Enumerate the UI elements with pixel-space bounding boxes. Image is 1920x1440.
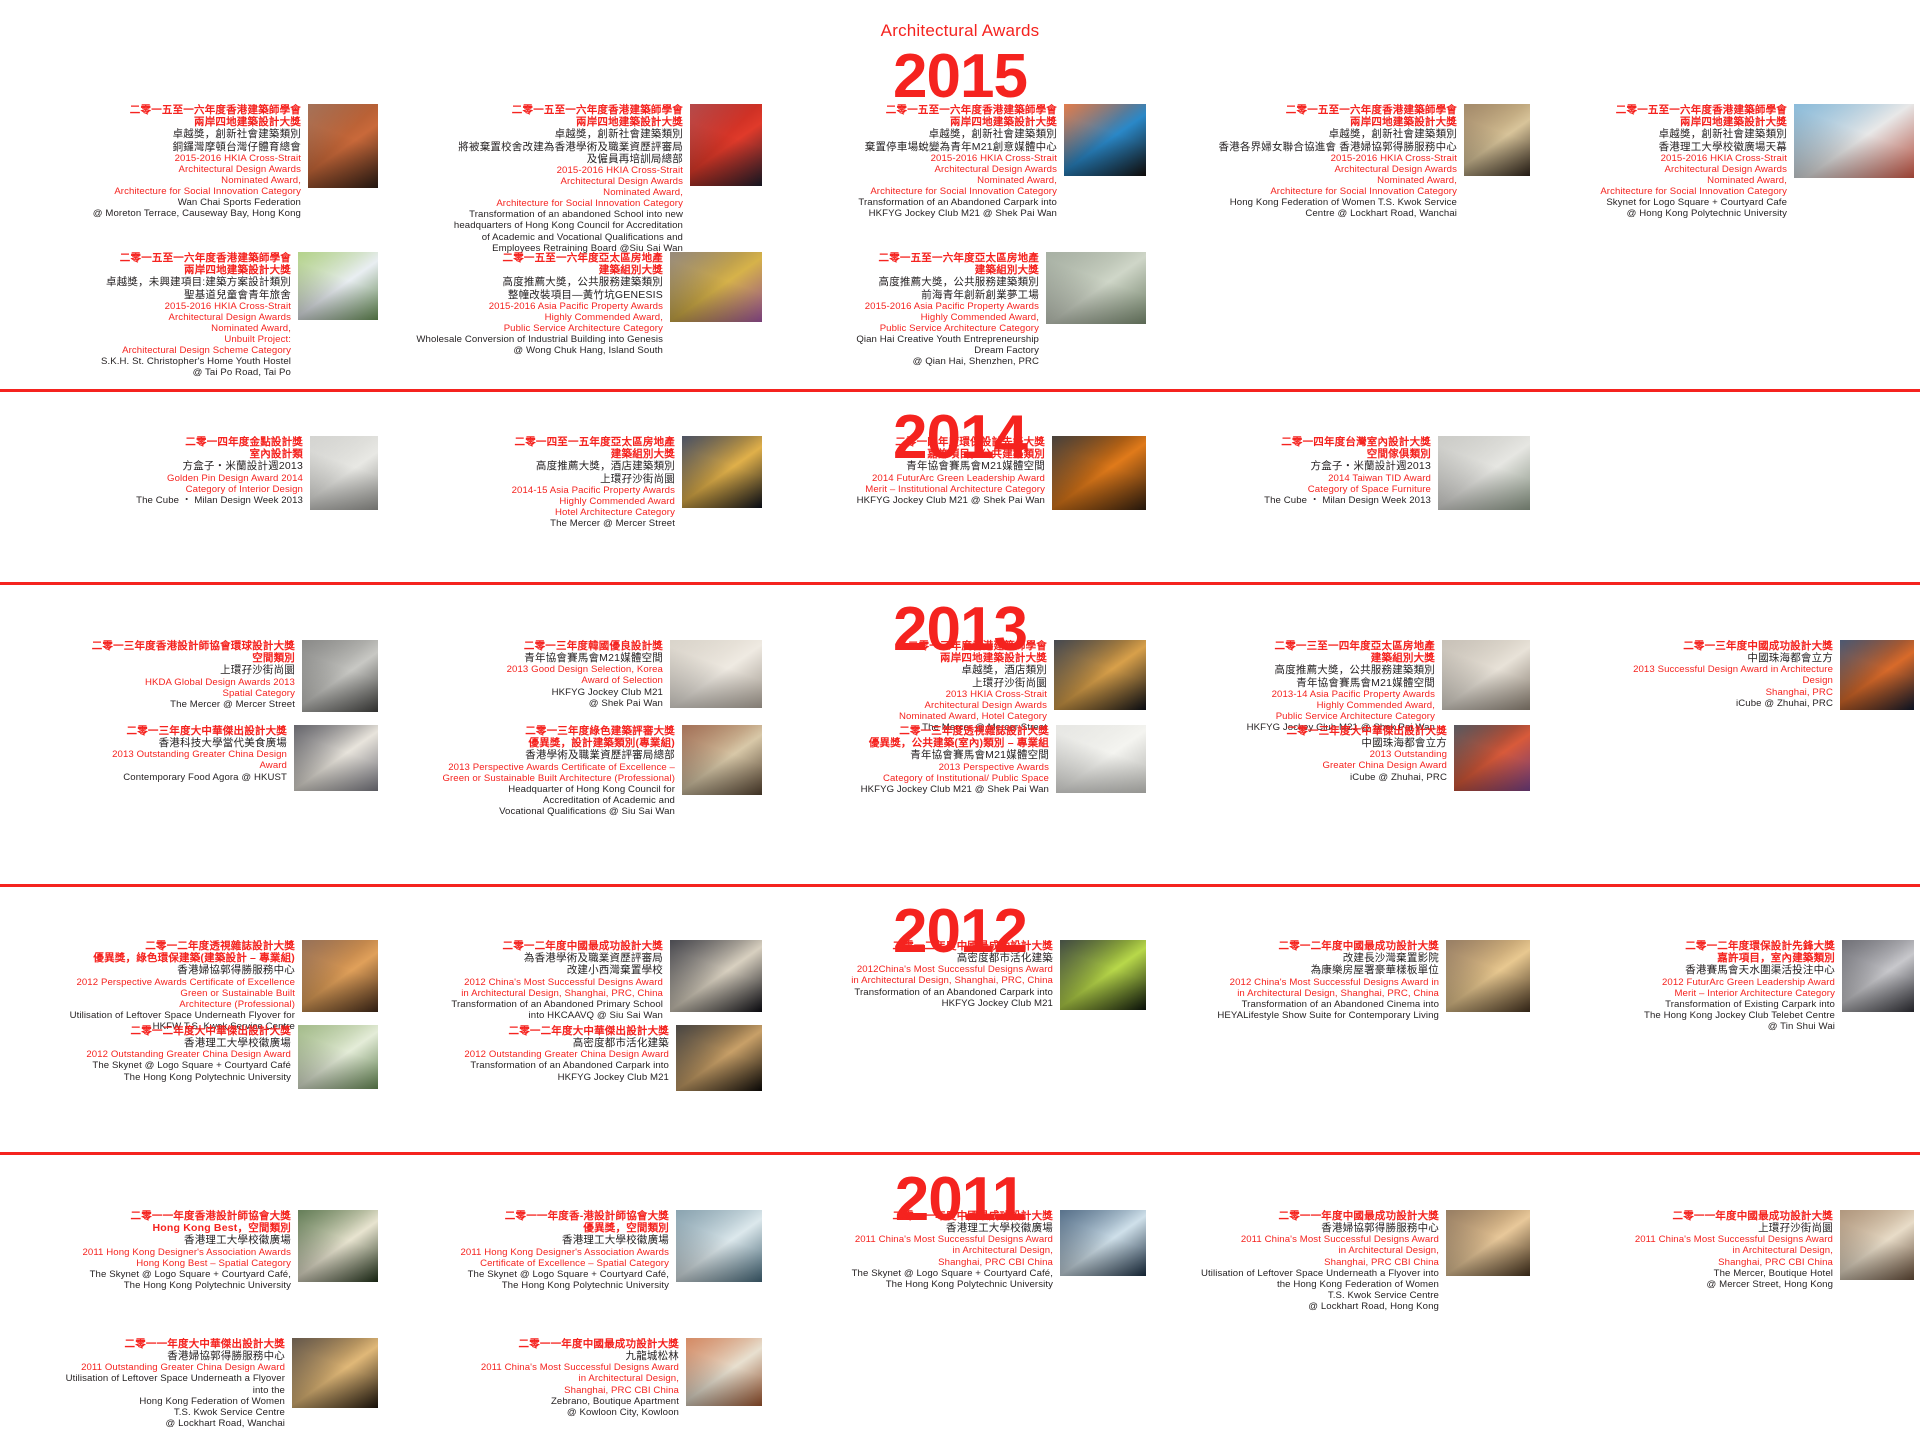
award-caption-line: Hotel Architecture Category — [390, 507, 675, 518]
award-entry[interactable]: 二零一二年度環保設計先鋒大獎嘉許項目，室內建築類別香港賽馬會天水圍渠活投注中心2… — [1542, 940, 1914, 1032]
award-caption-line: 2012 China's Most Successful Designs Awa… — [1158, 977, 1439, 988]
award-caption: 二零一三年度大中華傑出設計大獎中國珠海都會立方2013 OutstandingG… — [1158, 725, 1447, 783]
award-caption-line: 2011 China's Most Successful Designs Awa… — [774, 1234, 1053, 1245]
award-caption: 二零一三年度綠色建築評審大獎優異獎，設計建築類別(專業組)香港學術及職業資歷評審… — [390, 725, 675, 817]
year-divider-rule — [0, 582, 1920, 585]
award-caption-line: @ Wong Chuk Hang, Island South — [390, 345, 663, 356]
award-caption-line: 二零一三年度中國成功設計大獎 — [1542, 640, 1833, 652]
award-caption-line: 2013 Outstanding Greater China Design — [6, 749, 287, 760]
award-caption-line: 2013 Successful Design Award in Architec… — [1542, 664, 1833, 675]
award-caption-line: Architectural Design Awards — [1542, 164, 1787, 175]
award-entry[interactable]: 二零一五至一六年度香港建築師學會兩岸四地建築設計大獎卓越獎，創新社會建築類別棄置… — [774, 104, 1146, 219]
award-caption-line: Centre @ Lockhart Road, Wanchai — [1158, 208, 1457, 219]
award-caption-line: 2014-15 Asia Pacific Property Awards — [390, 485, 675, 496]
award-caption-line: The Mercer, Boutique Hotel — [1542, 1268, 1833, 1279]
award-caption: 二零一三年度韓國優良設計獎青年協會賽馬會M21媒體空間2013 Good Des… — [390, 640, 663, 709]
award-caption-line: @ Lockhart Road, Wanchai — [6, 1418, 285, 1429]
award-photo — [310, 436, 378, 510]
award-caption-line: Shanghai, PRC — [1542, 687, 1833, 698]
award-cell — [1152, 1025, 1536, 1105]
award-caption-line: in Architectural Design, — [1542, 1245, 1833, 1256]
award-caption-line: @ Qian Hai, Shenzhen, PRC — [774, 356, 1039, 367]
award-caption-line: 優異獎，設計建築類別(專業組) — [390, 737, 675, 749]
award-caption-line: 中國珠海都會立方 — [1542, 652, 1833, 664]
award-photo — [690, 104, 762, 186]
award-caption: 二零一一年度中國最成功設計大獎上環孖沙街尚圜2011 China's Most … — [1542, 1210, 1833, 1290]
award-caption-line: The Cube ・ Milan Design Week 2013 — [1158, 495, 1431, 506]
award-caption-line: 兩岸四地建築設計大獎 — [774, 116, 1057, 128]
award-entry[interactable]: 二零一三至一四年度亞太區房地產建築組別大獎高度推薦大獎，公共服務建築類別青年協會… — [1158, 640, 1530, 733]
award-caption: 二零一二年度大中華傑出設計大獎香港理工大學校徽廣場2012 Outstandin… — [6, 1025, 291, 1083]
award-entry[interactable]: 二零一五至一六年度香港建築師學會兩岸四地建築設計大獎卓越獎，創新社會建築類別銅鑼… — [6, 104, 378, 219]
award-caption-line: HEYALifestyle Show Suite for Contemporar… — [1158, 1010, 1439, 1021]
award-caption-line: 建築組別大獎 — [1158, 652, 1435, 664]
award-photo — [308, 104, 378, 188]
award-caption-line: Merit – Interior Architecture Category — [1542, 988, 1835, 999]
award-caption-line: Architectural Design Awards — [6, 164, 301, 175]
award-caption-line: 2015-2016 HKIA Cross-Strait — [774, 153, 1057, 164]
award-caption-line: 2013 Outstanding — [1158, 749, 1447, 760]
award-caption-line: in Architectural Design, — [1158, 1245, 1439, 1256]
award-caption-line: Nominated Award, — [390, 187, 683, 198]
award-caption-line: 青年協會賽馬會M21媒體空間 — [1158, 677, 1435, 689]
page-header: Architectural Awards 2015 — [0, 22, 1920, 106]
award-cell — [768, 1338, 1152, 1440]
award-entry[interactable]: 二零一一年度中國最成功設計大獎香港理工大學校徽廣場2011 China's Mo… — [774, 1210, 1146, 1290]
award-entry[interactable]: 二零一三年度大中華傑出設計大獎中國珠海都會立方2013 OutstandingG… — [1158, 725, 1530, 791]
award-caption-line: 香港各界婦女聯合協進會 香港婦協郭得勝服務中心 — [1158, 141, 1457, 153]
award-cell — [1536, 252, 1920, 393]
award-caption-line: 2011 Outstanding Greater China Design Aw… — [6, 1362, 285, 1373]
award-caption: 二零一一年度中國最成功設計大獎九龍城松林2011 China's Most Su… — [390, 1338, 679, 1418]
award-caption-line: T.S. Kwok Service Centre — [6, 1407, 285, 1418]
award-caption-line: 二零一二年度中國最成功設計大獎 — [390, 940, 663, 952]
award-caption-line: Dream Factory — [774, 345, 1039, 356]
award-caption-line: Unbuilt Project: — [6, 334, 291, 345]
award-photo — [1446, 1210, 1530, 1276]
award-caption-line: Green or Sustainable Built Architecture … — [390, 773, 675, 784]
award-entry[interactable]: 二零一五至一六年度香港建築師學會兩岸四地建築設計大獎卓越獎，未興建項目:建築方案… — [6, 252, 378, 379]
award-caption-line: 二零一二年度環保設計先鋒大獎 — [1542, 940, 1835, 952]
award-caption-line: Zebrano, Boutique Apartment — [390, 1396, 679, 1407]
award-caption-line: 上環孖沙街尚圜 — [6, 664, 295, 676]
award-caption-line: Skynet for Logo Square + Courtyard Cafe — [1542, 197, 1787, 208]
award-cell: 二零一四至一五年度亞太區房地產建築組別大獎高度推薦大獎，酒店建築類別上環孖沙街尚… — [384, 436, 768, 543]
award-photo — [1840, 1210, 1914, 1280]
award-caption-line: 空間傢俱類別 — [1158, 448, 1431, 460]
award-caption-line: Utilisation of Leftover Space Underneath… — [6, 1373, 285, 1384]
award-caption: 二零一三年度香港設計師協會環球設計大獎空間類別上環孖沙街尚圜HKDA Globa… — [6, 640, 295, 710]
award-caption-line: 2015-2016 HKIA Cross-Strait — [1542, 153, 1787, 164]
award-caption-line: 二零一五至一六年度香港建築師學會 — [774, 104, 1057, 116]
award-caption-line: Wan Chai Sports Federation — [6, 197, 301, 208]
award-caption-line: @ Moreton Terrace, Causeway Bay, Hong Ko… — [6, 208, 301, 219]
award-caption-line: 2013 HKIA Cross-Strait — [774, 689, 1047, 700]
award-caption: 二零一一年度中國最成功設計大獎香港理工大學校徽廣場2011 China's Mo… — [774, 1210, 1053, 1290]
award-caption-line: Category of Space Furniture — [1158, 484, 1431, 495]
award-caption-line: Nominated Award, — [1542, 175, 1787, 186]
award-entry[interactable]: 二零一三年度香港建築師學會兩岸四地建築設計大獎卓越獎，酒店類別上環孖沙街尚圜20… — [774, 640, 1146, 733]
award-caption-line: 二零一一年度香港設計師協會大獎 — [6, 1210, 291, 1222]
hero-year: 2015 — [0, 47, 1920, 107]
award-caption-line: Utilisation of Leftover Space Underneath… — [1158, 1268, 1439, 1279]
award-caption-line: Transformation of an abandoned School in… — [390, 209, 683, 220]
award-photo — [1064, 104, 1146, 176]
award-caption-line: 2011 China's Most Successful Designs Awa… — [390, 1362, 679, 1373]
award-caption-line: Architecture for Social Innovation Categ… — [1158, 186, 1457, 197]
award-caption-line: HKDA Global Design Awards 2013 — [6, 677, 295, 688]
award-caption-line: Nominated Award, — [1158, 175, 1457, 186]
award-caption-line: 上環孖沙街尚圜 — [774, 677, 1047, 689]
award-caption-line: The Hong Kong Polytechnic University — [6, 1072, 291, 1083]
award-row: 二零一五至一六年度香港建築師學會兩岸四地建築設計大獎卓越獎，創新社會建築類別銅鑼… — [0, 104, 1920, 268]
award-caption-line: 室內設計類 — [6, 448, 303, 460]
award-entry[interactable]: 二零一一年度中國最成功設計大獎上環孖沙街尚圜2011 China's Most … — [1542, 1210, 1914, 1290]
award-caption-line: Wholesale Conversion of Industrial Build… — [390, 334, 663, 345]
award-cell: 二零一二年度大中華傑出設計大獎香港理工大學校徽廣場2012 Outstandin… — [0, 1025, 384, 1105]
award-caption-line: Greater China Design Award — [1158, 760, 1447, 771]
award-photo — [1454, 725, 1530, 791]
award-caption-line: 香港科技大學當代美食廣場 — [6, 737, 287, 749]
award-caption-line: @ Kowloon City, Kowloon — [390, 1407, 679, 1418]
award-caption-line: Transformation of an Abandoned Primary S… — [390, 999, 663, 1010]
award-caption-line: 2012 Outstanding Greater China Design Aw… — [390, 1049, 669, 1060]
award-caption-line: 2012 China's Most Successful Designs Awa… — [390, 977, 663, 988]
award-caption-line: 卓越獎，創新社會建築類別 — [390, 128, 683, 140]
award-entry[interactable]: 二零一四年度環保設計先鋒大獎嘉許項目，公共建築類別青年協會賽馬會M21媒體空間2… — [774, 436, 1146, 510]
award-entry[interactable]: 二零一三年度香港設計師協會環球設計大獎空間類別上環孖沙街尚圜HKDA Globa… — [6, 640, 378, 712]
award-caption-line: 2011 China's Most Successful Designs Awa… — [1158, 1234, 1439, 1245]
award-caption-line: 二零一五至一六年度香港建築師學會 — [1158, 104, 1457, 116]
award-photo — [1442, 640, 1530, 710]
award-caption-line: 二零一二年度透視雜誌設計大獎 — [6, 940, 295, 952]
award-caption-line: 二零一三至一四年度亞太區房地產 — [1158, 640, 1435, 652]
award-cell — [1536, 436, 1920, 543]
award-caption-line: 二零一五至一六年度亞太區房地產 — [774, 252, 1039, 264]
award-caption-line: Architectural Design Awards — [390, 176, 683, 187]
award-entry[interactable]: 二零一一年度大中華傑出設計大獎香港婦協郭得勝服務中心2011 Outstandi… — [6, 1338, 378, 1429]
award-caption-line: Merit – Institutional Architecture Categ… — [774, 484, 1045, 495]
award-cell: 二零一五至一六年度香港建築師學會兩岸四地建築設計大獎卓越獎，未興建項目:建築方案… — [0, 252, 384, 393]
award-caption-line: HKFYG Jockey Club M21 @ Shek Pai Wan — [774, 495, 1045, 506]
award-cell: 二零一五至一六年度香港建築師學會兩岸四地建築設計大獎卓越獎，創新社會建築類別香港… — [1536, 104, 1920, 268]
award-cell: 二零一一年度大中華傑出設計大獎香港婦協郭得勝服務中心2011 Outstandi… — [0, 1338, 384, 1440]
award-caption-line: 2011 China's Most Successful Designs Awa… — [1542, 1234, 1833, 1245]
award-caption-line: Hong Kong Federation of Women — [6, 1396, 285, 1407]
award-caption-line: 二零一三年度香港建築師學會 — [774, 640, 1047, 652]
award-photo — [682, 436, 762, 508]
award-entry[interactable]: 二零一五至一六年度香港建築師學會兩岸四地建築設計大獎卓越獎，創新社會建築類別香港… — [1158, 104, 1530, 219]
award-photo — [1794, 104, 1914, 178]
award-caption-line: 高密度都市活化建築 — [390, 1037, 669, 1049]
award-caption-line: Architectural Design Scheme Category — [6, 345, 291, 356]
award-caption-line: Shanghai, PRC CBI China — [1158, 1257, 1439, 1268]
award-caption-line: Hong Kong Best，空間類別 — [6, 1222, 291, 1234]
award-entry[interactable]: 二零一二年度透視雜誌設計大獎優異獎，綠色環保建築(建築設計 – 專業組)香港婦協… — [6, 940, 378, 1032]
award-caption-line: Nominated Award, — [6, 323, 291, 334]
award-caption-line: Headquarter of Hong Kong Council for — [390, 784, 675, 795]
award-caption-line: into HKCAAVQ @ Siu Sai Wan — [390, 1010, 663, 1021]
award-caption-line: 2015-2016 Asia Pacific Property Awards — [774, 301, 1039, 312]
award-caption-line: 二零一五至一六年度香港建築師學會 — [1542, 104, 1787, 116]
award-caption-line: 二零一四年度金點設計獎 — [6, 436, 303, 448]
award-entry[interactable]: 二零一二年度大中華傑出設計大獎高密度都市活化建築2012 Outstanding… — [390, 1025, 762, 1091]
award-caption-line: the Hong Kong Federation of Women — [1158, 1279, 1439, 1290]
award-caption-line: Architectural Design Awards — [774, 700, 1047, 711]
award-entry[interactable]: 二零一五至一六年度香港建築師學會兩岸四地建築設計大獎卓越獎，創新社會建築類別將被… — [390, 104, 762, 254]
award-row: 二零一二年度大中華傑出設計大獎香港理工大學校徽廣場2012 Outstandin… — [0, 1025, 1920, 1105]
award-caption-line: HKFYG Jockey Club M21 — [390, 687, 663, 698]
award-caption-line: 前海青年創新創業夢工場 — [774, 289, 1039, 301]
award-photo — [1840, 640, 1914, 710]
award-caption-line: 建築組別大獎 — [390, 264, 663, 276]
award-caption-line: 將被棄置校舍改建為香港學術及職業資歷評審局 — [390, 141, 683, 153]
award-caption-line: 卓越獎，酒店類別 — [774, 664, 1047, 676]
award-caption-line: HKFYG Jockey Club M21 @ Shek Pai Wan — [774, 208, 1057, 219]
award-entry[interactable]: 二零一四至一五年度亞太區房地產建築組別大獎高度推薦大獎，酒店建築類別上環孖沙街尚… — [390, 436, 762, 529]
award-caption-line: The Skynet @ Logo Square + Courtyard Caf… — [774, 1268, 1053, 1279]
award-entry[interactable]: 二零一五至一六年度亞太區房地產建築組別大獎高度推薦大獎，公共服務建築類別整幢改裝… — [390, 252, 762, 356]
award-caption-line: 嘉許項目，公共建築類別 — [774, 448, 1045, 460]
award-caption-line: Architectural Design Awards — [1158, 164, 1457, 175]
award-photo — [298, 252, 378, 320]
award-caption-line: Architectural Design Awards — [6, 312, 291, 323]
award-photo — [1842, 940, 1914, 1012]
award-entry[interactable]: 二零一五至一六年度香港建築師學會兩岸四地建築設計大獎卓越獎，創新社會建築類別香港… — [1542, 104, 1914, 219]
award-photo — [676, 1210, 762, 1282]
award-caption-line: Design — [1542, 675, 1833, 686]
award-caption-line: Highly Commended Award, — [390, 312, 663, 323]
award-caption-line: 空間類別 — [6, 652, 295, 664]
award-caption-line: Utilisation of Leftover Space Underneath… — [6, 1010, 295, 1021]
award-caption-line: 香港理工大學校徽廣場 — [390, 1234, 669, 1246]
award-caption: 二零一五至一六年度香港建築師學會兩岸四地建築設計大獎卓越獎，創新社會建築類別將被… — [390, 104, 683, 254]
award-caption-line: Nominated Award, — [774, 175, 1057, 186]
award-entry[interactable]: 二零一一年度香-港設計師協會大獎優異獎，空間類別香港理工大學校徽廣場2011 H… — [390, 1210, 762, 1291]
award-caption-line: 聖基道兒童會青年旅舍 — [6, 289, 291, 301]
award-caption-line: Spatial Category — [6, 688, 295, 699]
award-entry[interactable]: 二零一二年度中國最成功設計大獎為香港學術及職業資歷評審局改建小西灣棄置學校201… — [390, 940, 762, 1021]
award-caption-line: 卓越獎，創新社會建築類別 — [774, 128, 1057, 140]
award-caption-line: Hong Kong Federation of Women T.S. Kwok … — [1158, 197, 1457, 208]
award-caption-line: T.S. Kwok Service Centre — [1158, 1290, 1439, 1301]
award-caption: 二零一五至一六年度香港建築師學會兩岸四地建築設計大獎卓越獎，未興建項目:建築方案… — [6, 252, 291, 379]
award-caption-line: in Architectural Design, Shanghai, PRC, … — [774, 975, 1053, 986]
award-cell — [1536, 725, 1920, 831]
award-caption: 二零一五至一六年度香港建築師學會兩岸四地建築設計大獎卓越獎，創新社會建築類別香港… — [1158, 104, 1457, 219]
award-cell: 二零一五至一六年度亞太區房地產建築組別大獎高度推薦大獎，公共服務建築類別前海青年… — [768, 252, 1152, 393]
award-caption-line: in Architectural Design, — [774, 1245, 1053, 1256]
award-caption-line: Golden Pin Design Award 2014 — [6, 473, 303, 484]
award-entry[interactable]: 二零一一年度中國最成功設計大獎九龍城松林2011 China's Most Su… — [390, 1338, 762, 1418]
award-caption-line: 兩岸四地建築設計大獎 — [390, 116, 683, 128]
award-cell: 二零一四年度環保設計先鋒大獎嘉許項目，公共建築類別青年協會賽馬會M21媒體空間2… — [768, 436, 1152, 543]
award-entry[interactable]: 二零一三年度中國成功設計大獎中國珠海都會立方2013 Successful De… — [1542, 640, 1914, 710]
award-caption-line: The Hong Kong Polytechnic University — [774, 1279, 1053, 1290]
award-cell: 二零一五至一六年度亞太區房地產建築組別大獎高度推薦大獎，公共服務建築類別整幢改裝… — [384, 252, 768, 393]
award-caption-line: 香港理工大學校徽廣場 — [6, 1037, 291, 1049]
award-caption-line: 二零一三年度綠色建築評審大獎 — [390, 725, 675, 737]
award-caption-line: Highly Commended Award, — [774, 312, 1039, 323]
award-entry[interactable]: 二零一三年度韓國優良設計獎青年協會賽馬會M21媒體空間2013 Good Des… — [390, 640, 762, 709]
award-caption-line: of Academic and Vocational Qualification… — [390, 232, 683, 243]
award-caption-line: The Skynet @ Logo Square + Courtyard Caf… — [390, 1269, 669, 1280]
award-photo — [292, 1338, 378, 1408]
award-caption-line: 二零一五至一六年度亞太區房地產 — [390, 252, 663, 264]
award-caption-line: The Skynet @ Logo Square + Courtyard Caf… — [6, 1269, 291, 1280]
award-caption-line: 青年協會賽馬會M21媒體空間 — [774, 749, 1049, 761]
year-divider-rule — [0, 884, 1920, 887]
year-divider-rule — [0, 389, 1920, 392]
award-entry[interactable]: 二零一三年度大中華傑出設計大獎香港科技大學當代美食廣場2013 Outstand… — [6, 725, 378, 791]
award-caption-line: 二零一二年度大中華傑出設計大獎 — [390, 1025, 669, 1037]
award-caption: 二零一二年度中國最成功設計大獎改建長沙灣棄置影院為康樂房屋署豪華樣板單位2012… — [1158, 940, 1439, 1021]
award-caption-line: 青年協會賽馬會M21媒體空間 — [390, 652, 663, 664]
award-caption-line: Transformation of an Abandoned Cinema in… — [1158, 999, 1439, 1010]
award-cell: 二零一一年度中國最成功設計大獎九龍城松林2011 China's Most Su… — [384, 1338, 768, 1440]
award-caption-line: 2013 Perspective Awards — [774, 762, 1049, 773]
award-caption-line: Award of Selection — [390, 675, 663, 686]
award-cell — [1152, 252, 1536, 393]
award-caption-line: in Architectural Design, Shanghai, PRC, … — [1158, 988, 1439, 999]
award-caption-line: Accreditation of Academic and — [390, 795, 675, 806]
award-caption-line: 2012 FuturArc Green Leadership Award — [1542, 977, 1835, 988]
award-caption-line: The Hong Kong Jockey Club Telebet Centre — [1542, 1010, 1835, 1021]
award-cell: 二零一四年度台灣室內設計大獎空間傢俱類別方盒子・米蘭設計週20132014 Ta… — [1152, 436, 1536, 543]
award-entry[interactable]: 二零一二年度中國最成功設計大獎高密度都市活化建築2012China's Most… — [774, 940, 1146, 1010]
award-caption-line: 嘉許項目，室內建築類別 — [1542, 952, 1835, 964]
award-cell: 二零一一年度中國最成功設計大獎香港理工大學校徽廣場2011 China's Mo… — [768, 1210, 1152, 1326]
award-entry[interactable]: 二零一三年度透視雜誌設計大獎優異獎，公共建築(室內)類別 – 專業組青年協會賽馬… — [774, 725, 1146, 795]
award-photo — [686, 1338, 762, 1406]
award-caption: 二零一二年度透視雜誌設計大獎優異獎，綠色環保建築(建築設計 – 專業組)香港婦協… — [6, 940, 295, 1032]
award-caption-line: 高度推薦大獎，公共服務建築類別 — [390, 276, 663, 288]
award-caption: 二零一五至一六年度亞太區房地產建築組別大獎高度推薦大獎，公共服務建築類別前海青年… — [774, 252, 1039, 367]
award-caption-line: 2012 Outstanding Greater China Design Aw… — [6, 1049, 291, 1060]
award-caption-line: Public Service Architecture Category — [1158, 711, 1435, 722]
award-entry[interactable]: 二零一五至一六年度亞太區房地產建築組別大獎高度推薦大獎，公共服務建築類別前海青年… — [774, 252, 1146, 367]
award-caption-line: 二零一四年度環保設計先鋒大獎 — [774, 436, 1045, 448]
award-caption-line: Shanghai, PRC CBI China — [1542, 1257, 1833, 1268]
award-caption-line: into the — [6, 1385, 285, 1396]
award-entry[interactable]: 二零一一年度中國最成功設計大獎香港婦協郭得勝服務中心2011 China's M… — [1158, 1210, 1530, 1312]
award-caption-line: 香港理工大學校徽廣場 — [6, 1234, 291, 1246]
award-caption-line: 二零一三年度韓國優良設計獎 — [390, 640, 663, 652]
award-cell: 二零一三年度綠色建築評審大獎優異獎，設計建築類別(專業組)香港學術及職業資歷評審… — [384, 725, 768, 831]
award-photo — [1054, 640, 1146, 710]
award-caption-line: 香港婦協郭得勝服務中心 — [6, 964, 295, 976]
award-caption-line: Highly Commended Award — [390, 496, 675, 507]
award-cell — [1152, 1338, 1536, 1440]
award-caption-line: 及僱員再培訓局總部 — [390, 153, 683, 165]
award-caption-line: Certificate of Excellence – Spatial Cate… — [390, 1258, 669, 1269]
award-entry[interactable]: 二零一二年度中國最成功設計大獎改建長沙灣棄置影院為康樂房屋署豪華樣板單位2012… — [1158, 940, 1530, 1021]
award-caption: 二零一一年度中國最成功設計大獎香港婦協郭得勝服務中心2011 China's M… — [1158, 1210, 1439, 1312]
award-photo — [1438, 436, 1530, 510]
award-caption-line: @ Tai Po Road, Tai Po — [6, 367, 291, 378]
award-caption-line: Public Service Architecture Category — [774, 323, 1039, 334]
award-caption-line: 方盒子・米蘭設計週2013 — [1158, 460, 1431, 472]
award-caption: 二零一一年度香港設計師協會大獎Hong Kong Best，空間類別香港理工大學… — [6, 1210, 291, 1291]
award-caption-line: 香港婦協郭得勝服務中心 — [6, 1350, 285, 1362]
award-caption-line: Hong Kong Best – Spatial Category — [6, 1258, 291, 1269]
award-caption-line: 二零一三年度透視雜誌設計大獎 — [774, 725, 1049, 737]
award-caption-line: 高密度都市活化建築 — [774, 952, 1053, 964]
award-photo — [1046, 252, 1146, 324]
award-caption-line: 棄置停車場蛻變為青年M21創意媒體中心 — [774, 141, 1057, 153]
award-entry[interactable]: 二零一四年度台灣室內設計大獎空間傢俱類別方盒子・米蘭設計週20132014 Ta… — [1158, 436, 1530, 510]
awards-timeline-page: Architectural Awards 2015 二零一五至一六年度香港建築師… — [0, 0, 1920, 1440]
award-caption-line: 香港婦協郭得勝服務中心 — [1158, 1222, 1439, 1234]
award-caption-line: 方盒子・米蘭設計週2013 — [6, 460, 303, 472]
award-caption-line: Transformation of an Abandoned Carpark i… — [774, 987, 1053, 998]
award-caption-line: Nominated Award, Hotel Category — [774, 711, 1047, 722]
award-caption-line: The Mercer @ Mercer Street — [6, 699, 295, 710]
award-caption-line: @ Lockhart Road, Hong Kong — [1158, 1301, 1439, 1312]
award-caption: 二零一二年度中國最成功設計大獎高密度都市活化建築2012China's Most… — [774, 940, 1053, 1009]
award-caption-line: Architecture for Social Innovation Categ… — [6, 186, 301, 197]
award-caption-line: 香港賽馬會天水圍渠活投注中心 — [1542, 964, 1835, 976]
award-caption-line: 改建小西灣棄置學校 — [390, 964, 663, 976]
award-caption-line: 卓越獎，創新社會建築類別 — [1158, 128, 1457, 140]
award-caption-line: 高度推薦大獎，公共服務建築類別 — [774, 276, 1039, 288]
award-caption-line: Architecture for Social Innovation Categ… — [1542, 186, 1787, 197]
award-photo — [1446, 940, 1530, 1012]
award-cell — [768, 1025, 1152, 1105]
page-title: Architectural Awards — [0, 22, 1920, 41]
award-caption-line: headquarters of Hong Kong Council for Ac… — [390, 220, 683, 231]
award-caption-line: Highly Commended Award, — [1158, 700, 1435, 711]
award-caption-line: S.K.H. St. Christopher's Home Youth Host… — [6, 356, 291, 367]
award-caption: 二零一五至一六年度香港建築師學會兩岸四地建築設計大獎卓越獎，創新社會建築類別銅鑼… — [6, 104, 301, 219]
award-caption-line: Category of Institutional/ Public Space — [774, 773, 1049, 784]
award-caption-line: 二零一一年度中國最成功設計大獎 — [774, 1210, 1053, 1222]
award-photo — [298, 1025, 378, 1089]
award-entry[interactable]: 二零一一年度香港設計師協會大獎Hong Kong Best，空間類別香港理工大學… — [6, 1210, 378, 1291]
award-row: 二零一一年度大中華傑出設計大獎香港婦協郭得勝服務中心2011 Outstandi… — [0, 1338, 1920, 1440]
award-row: 二零一四年度金點設計獎室內設計類方盒子・米蘭設計週2013Golden Pin … — [0, 436, 1920, 543]
award-cell — [1536, 1338, 1920, 1440]
award-entry[interactable]: 二零一四年度金點設計獎室內設計類方盒子・米蘭設計週2013Golden Pin … — [6, 436, 378, 510]
award-caption-line: Shanghai, PRC CBI China — [774, 1257, 1053, 1268]
award-caption-line: 2015-2016 HKIA Cross-Strait — [6, 153, 301, 164]
award-caption: 二零一三年度透視雜誌設計大獎優異獎，公共建築(室內)類別 – 專業組青年協會賽馬… — [774, 725, 1049, 795]
award-caption-line: 2013 Good Design Selection, Korea — [390, 664, 663, 675]
award-photo — [302, 940, 378, 1012]
award-caption-line: 二零一一年度中國最成功設計大獎 — [1542, 1210, 1833, 1222]
award-caption: 二零一一年度大中華傑出設計大獎香港婦協郭得勝服務中心2011 Outstandi… — [6, 1338, 285, 1429]
award-cell: 二零一一年度香-港設計師協會大獎優異獎，空間類別香港理工大學校徽廣場2011 H… — [384, 1210, 768, 1326]
award-caption-line: 卓越獎，創新社會建築類別 — [6, 128, 301, 140]
award-caption-line: 上環孖沙街尚圜 — [390, 473, 675, 485]
award-caption-line: 二零一五至一六年度香港建築師學會 — [6, 252, 291, 264]
award-caption-line: 2015-2016 HKIA Cross-Strait — [6, 301, 291, 312]
award-caption-line: 二零一三年度大中華傑出設計大獎 — [1158, 725, 1447, 737]
award-caption-line: 卓越獎，未興建項目:建築方案設計類別 — [6, 276, 291, 288]
award-photo — [1052, 436, 1146, 510]
award-caption-line: 二零一二年度中國最成功設計大獎 — [1158, 940, 1439, 952]
award-caption: 二零一二年度環保設計先鋒大獎嘉許項目，室內建築類別香港賽馬會天水圍渠活投注中心2… — [1542, 940, 1835, 1032]
award-caption-line: 二零一一年度中國最成功設計大獎 — [1158, 1210, 1439, 1222]
award-entry[interactable]: 二零一二年度大中華傑出設計大獎香港理工大學校徽廣場2012 Outstandin… — [6, 1025, 378, 1089]
award-cell: 二零一一年度香港設計師協會大獎Hong Kong Best，空間類別香港理工大學… — [0, 1210, 384, 1326]
award-photo — [670, 940, 762, 1012]
award-cell: 二零一三年度透視雜誌設計大獎優異獎，公共建築(室內)類別 – 專業組青年協會賽馬… — [768, 725, 1152, 831]
award-caption-line: Green or Sustainable Built — [6, 988, 295, 999]
award-entry[interactable]: 二零一三年度綠色建築評審大獎優異獎，設計建築類別(專業組)香港學術及職業資歷評審… — [390, 725, 762, 817]
award-caption-line: 高度推薦大獎，公共服務建築類別 — [1158, 664, 1435, 676]
award-caption-line: 銅鑼灣摩頓台灣仔體育總會 — [6, 141, 301, 153]
